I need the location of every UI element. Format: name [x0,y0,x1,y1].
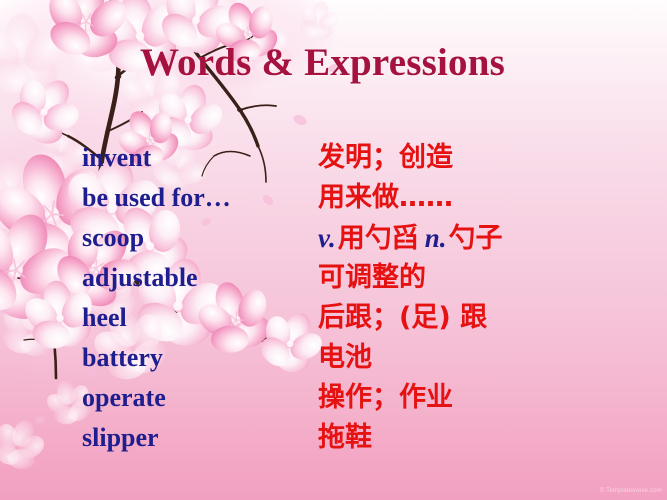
chinese-meaning: 发明；创造 [318,140,453,176]
english-term: operate [82,380,314,416]
chinese-meaning: 拖鞋 [318,420,372,456]
chinese-meaning: 可调整的 [318,260,426,296]
part-of-speech-verb: v. [318,223,338,253]
presentation-slide: Words & Expressions invent 发明；创造 be used… [0,0,667,500]
english-term: scoop [82,220,314,256]
english-term: heel [82,300,314,336]
vocabulary-row: slipper 拖鞋 [82,420,642,460]
english-term: battery [82,340,314,376]
chinese-meaning-verb: 用勺舀 [338,223,419,254]
english-term: invent [82,140,314,176]
part-of-speech-noun: n. [419,223,449,253]
chinese-meaning-noun: 勺子 [449,223,503,254]
english-term: slipper [82,420,314,456]
vocabulary-row: scoop v.用勺舀n.勺子 [82,220,642,260]
vocabulary-row: operate 操作；作业 [82,380,642,420]
chinese-meaning: 操作；作业 [318,380,453,416]
english-term: be used for… [82,180,314,216]
template-watermark: © Templateswise.com [600,488,662,494]
vocabulary-row: invent 发明；创造 [82,140,642,180]
english-term: adjustable [82,260,314,296]
slide-title: Words & Expressions [140,40,505,85]
vocabulary-row: battery 电池 [82,340,642,380]
chinese-meaning: 后跟；(足) 跟 [318,300,487,336]
vocabulary-row: be used for… 用来做…… [82,180,642,220]
chinese-meaning: v.用勺舀n.勺子 [318,220,503,257]
chinese-meaning: 电池 [318,340,372,376]
chinese-meaning: 用来做…… [318,180,453,216]
vocabulary-row: adjustable 可调整的 [82,260,642,300]
vocabulary-list: invent 发明；创造 be used for… 用来做…… scoop v.… [82,140,642,460]
vocabulary-row: heel 后跟；(足) 跟 [82,300,642,340]
